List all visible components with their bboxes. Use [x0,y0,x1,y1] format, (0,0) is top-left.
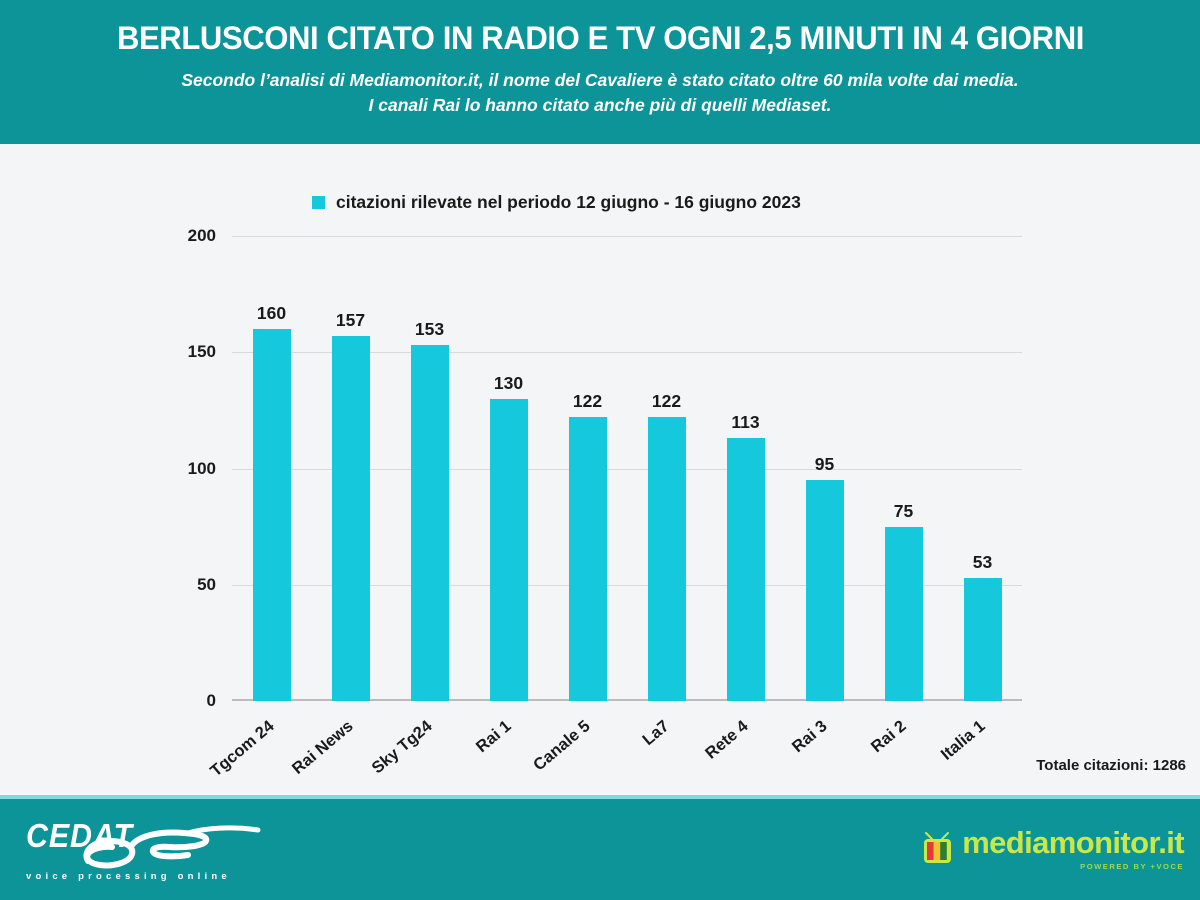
bar-slot: 153 [390,236,469,701]
infographic-root: BERLUSCONI CITATO IN RADIO E TV OGNI 2,5… [0,0,1200,900]
header-subtitle-line-2: I canali Rai lo hanno citato anche più d… [181,93,1018,118]
chart-legend: citazioni rilevate nel periodo 12 giugno… [312,192,801,213]
chart-container: citazioni rilevate nel periodo 12 giugno… [0,144,1200,795]
bar[interactable] [332,336,370,701]
tv-icon [923,832,953,866]
bar[interactable] [411,345,449,701]
page-title: BERLUSCONI CITATO IN RADIO E TV OGNI 2,5… [116,22,1083,56]
x-axis-label-slot: Tgcom 24 [232,701,311,796]
bar[interactable] [253,329,291,701]
bar-value-label: 122 [573,391,602,412]
mediamonitor-logo: mediamonitor.it POWERED BY +VOCE [923,821,1184,877]
legend-label: citazioni rilevate nel periodo 12 giugno… [336,192,801,213]
bar-slot: 130 [469,236,548,701]
x-axis-label-slot: Rai 2 [864,701,943,796]
x-axis-label-slot: Canale 5 [548,701,627,796]
bar-slot: 53 [943,236,1022,701]
bar-value-label: 122 [652,391,681,412]
x-axis-label-slot: Rai 3 [785,701,864,796]
bar-value-label: 157 [336,310,365,331]
y-axis-tick-label: 50 [0,575,216,595]
bar-value-label: 53 [973,552,992,573]
y-axis-tick-label: 0 [0,691,216,711]
bar-slot: 157 [311,236,390,701]
footer-banner: CEDAT voice processing online mediamonit [0,799,1200,900]
x-axis-label-slot: La7 [627,701,706,796]
mediamonitor-wordmark: mediamonitor.it POWERED BY +VOCE [962,827,1184,871]
total-citations-label: Totale citazioni: 1286 [1036,757,1186,774]
bar-slot: 75 [864,236,943,701]
bar[interactable] [569,417,607,701]
bar-value-label: 95 [815,454,834,475]
x-axis-label-slot: Italia 1 [943,701,1022,796]
cedat-tagline: voice processing online [26,871,231,882]
header-subtitle: Secondo l’analisi di Mediamonitor.it, il… [181,68,1018,119]
x-axis-label-slot: Rai News [311,701,390,796]
header-subtitle-line-1: Secondo l’analisi di Mediamonitor.it, il… [181,70,1018,90]
y-axis-labels: 050100150200 [0,236,216,701]
bar-value-label: 75 [894,501,913,522]
bar[interactable] [964,578,1002,701]
cedat-logo: CEDAT voice processing online [18,815,268,891]
bar[interactable] [806,480,844,701]
bar-slot: 122 [627,236,706,701]
bar[interactable] [490,399,528,701]
y-axis-tick-label: 100 [0,459,216,479]
y-axis-tick-label: 200 [0,226,216,246]
x-axis-labels: Tgcom 24Rai NewsSky Tg24Rai 1Canale 5La7… [232,701,1022,796]
bar-value-label: 160 [257,303,286,324]
bar-series: 160157153130122122113957553 [232,236,1022,701]
bar-value-label: 130 [494,373,523,394]
x-axis-tick-label: La7 [661,699,695,732]
x-axis-label-slot: Rai 1 [469,701,548,796]
bar[interactable] [727,438,765,701]
header-banner: BERLUSCONI CITATO IN RADIO E TV OGNI 2,5… [0,0,1200,144]
bar[interactable] [885,527,923,701]
x-axis-label-slot: Sky Tg24 [390,701,469,796]
bar-value-label: 113 [731,412,759,433]
mediamonitor-name: mediamonitor.it [962,827,1184,858]
bar-slot: 122 [548,236,627,701]
legend-swatch-icon [312,196,325,209]
x-axis-label-slot: Rete 4 [706,701,785,796]
cedat-85-mark-icon [80,821,270,875]
bar-value-label: 153 [415,319,444,340]
bar-slot: 95 [785,236,864,701]
y-axis-tick-label: 150 [0,342,216,362]
mediamonitor-powered-by: POWERED BY +VOCE [1080,862,1184,871]
bar-slot: 160 [232,236,311,701]
bar[interactable] [648,417,686,701]
bar-slot: 113 [706,236,785,701]
